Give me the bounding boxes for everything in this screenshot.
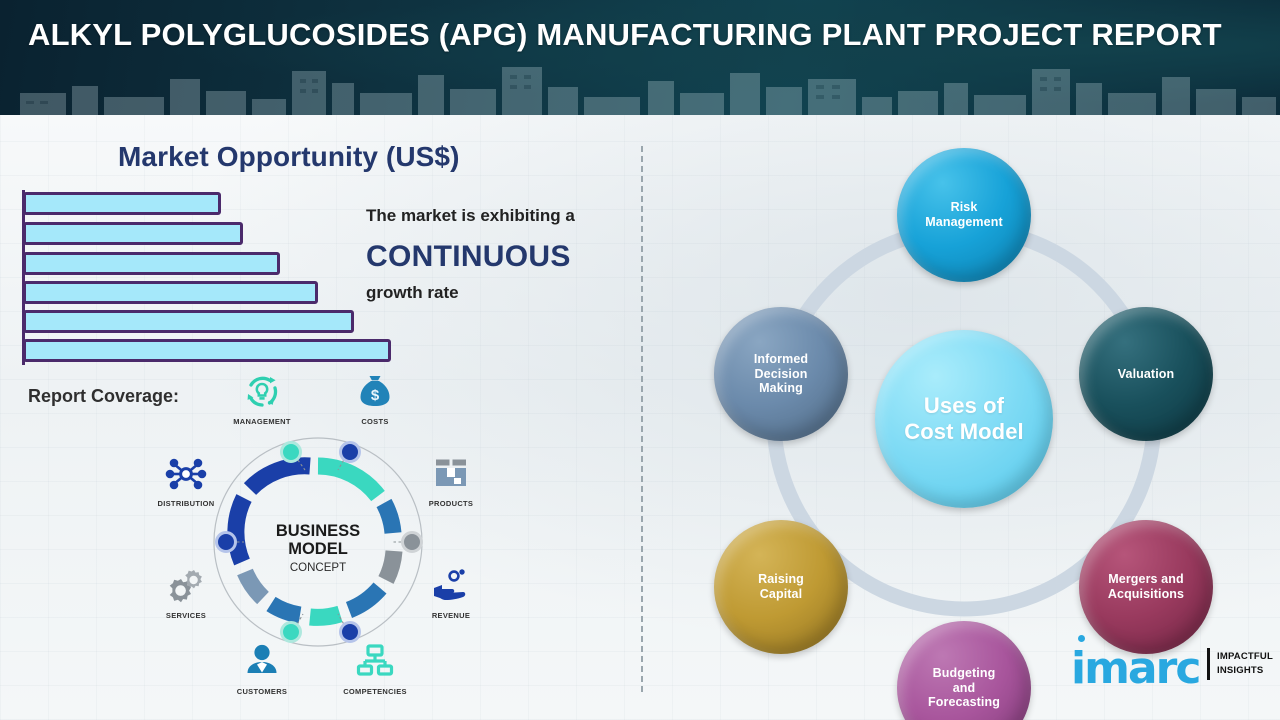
node-raising-capital[interactable]: RaisingCapital [714, 520, 848, 654]
money-bag-icon: $ [332, 372, 418, 414]
node-valuation[interactable]: Valuation [1079, 307, 1213, 441]
bar-5 [23, 310, 354, 333]
node-label: Valuation [1112, 367, 1180, 382]
coverage-item-services: SERVICES [143, 566, 229, 620]
coverage-item-customers: CUSTOMERS [219, 642, 305, 696]
bar-3 [23, 252, 280, 275]
network-nodes-icon [143, 454, 229, 496]
coverage-item-revenue: REVENUE [408, 566, 494, 620]
coverage-label: COSTS [332, 417, 418, 426]
bar-1 [23, 192, 221, 215]
svg-text:CONCEPT: CONCEPT [290, 562, 346, 574]
person-icon [219, 642, 305, 684]
logo-dot-icon [1078, 635, 1085, 642]
coverage-label: REVENUE [408, 611, 494, 620]
node-label: RaisingCapital [752, 572, 810, 602]
coverage-item-competencies: COMPETENCIES [332, 642, 418, 696]
node-label: RiskManagement [919, 200, 1008, 230]
svg-text:BUSINESS: BUSINESS [276, 522, 360, 540]
slide-canvas: ALKYL POLYGLUCOSIDES (APG) MANUFACTURING… [0, 0, 1280, 720]
bar-6 [23, 339, 391, 362]
market-text-line-3: growth rate [366, 283, 459, 303]
coverage-item-distribution: DISTRIBUTION [143, 454, 229, 508]
node-informed-decision-making[interactable]: InformedDecisionMaking [714, 307, 848, 441]
slide-header: ALKYL POLYGLUCOSIDES (APG) MANUFACTURING… [0, 0, 1280, 115]
coverage-label: PRODUCTS [408, 499, 494, 508]
coverage-item-products: PRODUCTS [408, 454, 494, 508]
coverage-item-costs: $ COSTS [332, 372, 418, 426]
uses-of-cost-model-diagram: RiskManagement Valuation Mergers andAcqu… [680, 126, 1260, 706]
logo-tagline-line-1: IMPACTFUL [1217, 650, 1273, 664]
logo-wordmark: imarc [1071, 643, 1199, 694]
logo-tagline-line-2: INSIGHTS [1217, 664, 1273, 678]
org-chart-icon [332, 642, 418, 684]
node-label: Uses ofCost Model [898, 393, 1030, 445]
logo-tagline: IMPACTFUL INSIGHTS [1217, 650, 1273, 678]
svg-text:MODEL: MODEL [288, 540, 348, 558]
coverage-label: COMPETENCIES [332, 687, 418, 696]
market-opportunity-bar-chart [22, 190, 422, 365]
lightbulb-recycle-icon [219, 372, 305, 414]
coverage-label: DISTRIBUTION [143, 499, 229, 508]
open-box-icon [408, 454, 494, 496]
svg-text:$: $ [371, 387, 380, 404]
business-model-graphic: BUSINESS MODEL CONCEPT [150, 370, 500, 710]
coverage-label: SERVICES [143, 611, 229, 620]
hand-coins-icon [408, 566, 494, 608]
page-title: ALKYL POLYGLUCOSIDES (APG) MANUFACTURING… [28, 14, 1243, 56]
coverage-item-management: MANAGEMENT [219, 372, 305, 426]
coverage-label: MANAGEMENT [219, 417, 305, 426]
logo-divider [1207, 648, 1210, 680]
node-risk-management[interactable]: RiskManagement [897, 148, 1031, 282]
node-label: Mergers andAcquisitions [1102, 572, 1190, 602]
bar-2 [23, 222, 243, 245]
imarc-logo: imarc IMPACTFUL INSIGHTS [1071, 645, 1271, 693]
panel-divider [641, 146, 643, 692]
node-label: InformedDecisionMaking [748, 352, 814, 396]
coverage-label: CUSTOMERS [219, 687, 305, 696]
market-opportunity-title: Market Opportunity (US$) [118, 141, 460, 173]
node-mergers-and-acquisitions[interactable]: Mergers andAcquisitions [1079, 520, 1213, 654]
city-skyline-graphic [0, 53, 1280, 115]
business-model-donut: BUSINESS MODEL CONCEPT [150, 370, 500, 710]
gears-icon [143, 566, 229, 608]
market-text-line-1: The market is exhibiting a [366, 206, 575, 226]
node-center-uses-of-cost-model[interactable]: Uses ofCost Model [875, 330, 1053, 508]
market-text-emphasis: CONTINUOUS [366, 240, 571, 274]
bar-4 [23, 281, 318, 304]
node-label: BudgetingandForecasting [922, 666, 1006, 710]
